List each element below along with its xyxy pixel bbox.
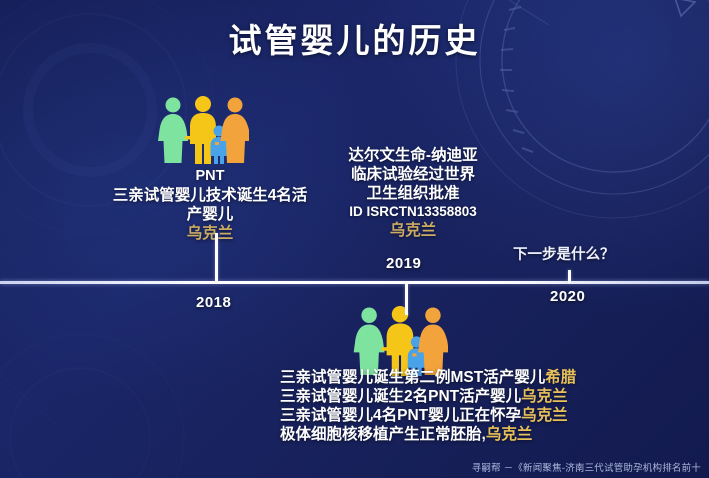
slide-canvas: 试管婴儿的历史 xyxy=(0,0,709,478)
event-block-2019: 达尔文生命-纳迪亚 临床试验经过世界 卫生组织批准 ID ISRCTN13358… xyxy=(320,146,506,240)
woman-figure xyxy=(354,308,385,375)
whats-next-label: 下一步是什么？ xyxy=(513,243,615,264)
page-title: 试管婴儿的历史 xyxy=(0,14,709,62)
event-text: 三亲试管婴儿4名PNT婴儿正在怀孕 xyxy=(280,407,521,424)
event-country: 乌克兰 xyxy=(486,426,533,443)
event-line: 三亲试管婴儿技术诞生4名活 xyxy=(92,186,328,205)
event-line: 三亲试管婴儿4名PNT婴儿正在怀孕乌克兰 xyxy=(280,406,632,425)
timeline-year-2019: 2019 xyxy=(386,255,421,272)
event-text: 三亲试管婴儿诞生2名PNT活产婴儿 xyxy=(280,388,521,405)
event-block-2018: PNT 三亲试管婴儿技术诞生4名活 产婴儿 乌克兰 xyxy=(92,166,328,243)
event-line: 极体细胞核移植产生正常胚胎,乌克兰 xyxy=(280,425,632,444)
watermark: 寻嗣帮 －《新闻聚焦-济南三代试管助孕机构排名前十 xyxy=(472,460,701,474)
event-text: 三亲试管婴儿诞生第二例MST活产婴儿 xyxy=(280,369,545,386)
event-country: 乌克兰 xyxy=(92,224,328,243)
timeline-year-2018: 2018 xyxy=(196,294,231,311)
trial-id: ID ISRCTN13358803 xyxy=(320,203,506,221)
event-line: 临床试验经过世界 xyxy=(320,165,506,184)
event-country: 希腊 xyxy=(545,369,576,386)
event-country: 乌克兰 xyxy=(521,388,568,405)
timeline-tick-2020 xyxy=(568,270,571,283)
event-line: 卫生组织批准 xyxy=(320,184,506,203)
event-line: PNT xyxy=(92,166,328,186)
timeline-year-2020: 2020 xyxy=(550,288,585,305)
event-text: 极体细胞核移植产生正常胚胎, xyxy=(280,426,486,443)
event-line: 产婴儿 xyxy=(92,205,328,224)
event-line: 三亲试管婴儿诞生第二例MST活产婴儿希腊 xyxy=(280,368,632,387)
woman-figure xyxy=(158,98,188,164)
timeline-axis xyxy=(0,281,709,284)
timeline-tick-2019 xyxy=(405,283,408,315)
event-line: 三亲试管婴儿诞生2名PNT活产婴儿乌克兰 xyxy=(280,387,632,406)
family-group-icon-top xyxy=(157,96,249,169)
event-block-bottom: 三亲试管婴儿诞生第二例MST活产婴儿希腊 三亲试管婴儿诞生2名PNT活产婴儿乌克… xyxy=(280,368,632,444)
timeline-tick-2018 xyxy=(215,233,218,282)
event-country: 乌克兰 xyxy=(521,407,568,424)
event-line: 达尔文生命-纳迪亚 xyxy=(320,146,506,165)
event-country: 乌克兰 xyxy=(320,221,506,240)
